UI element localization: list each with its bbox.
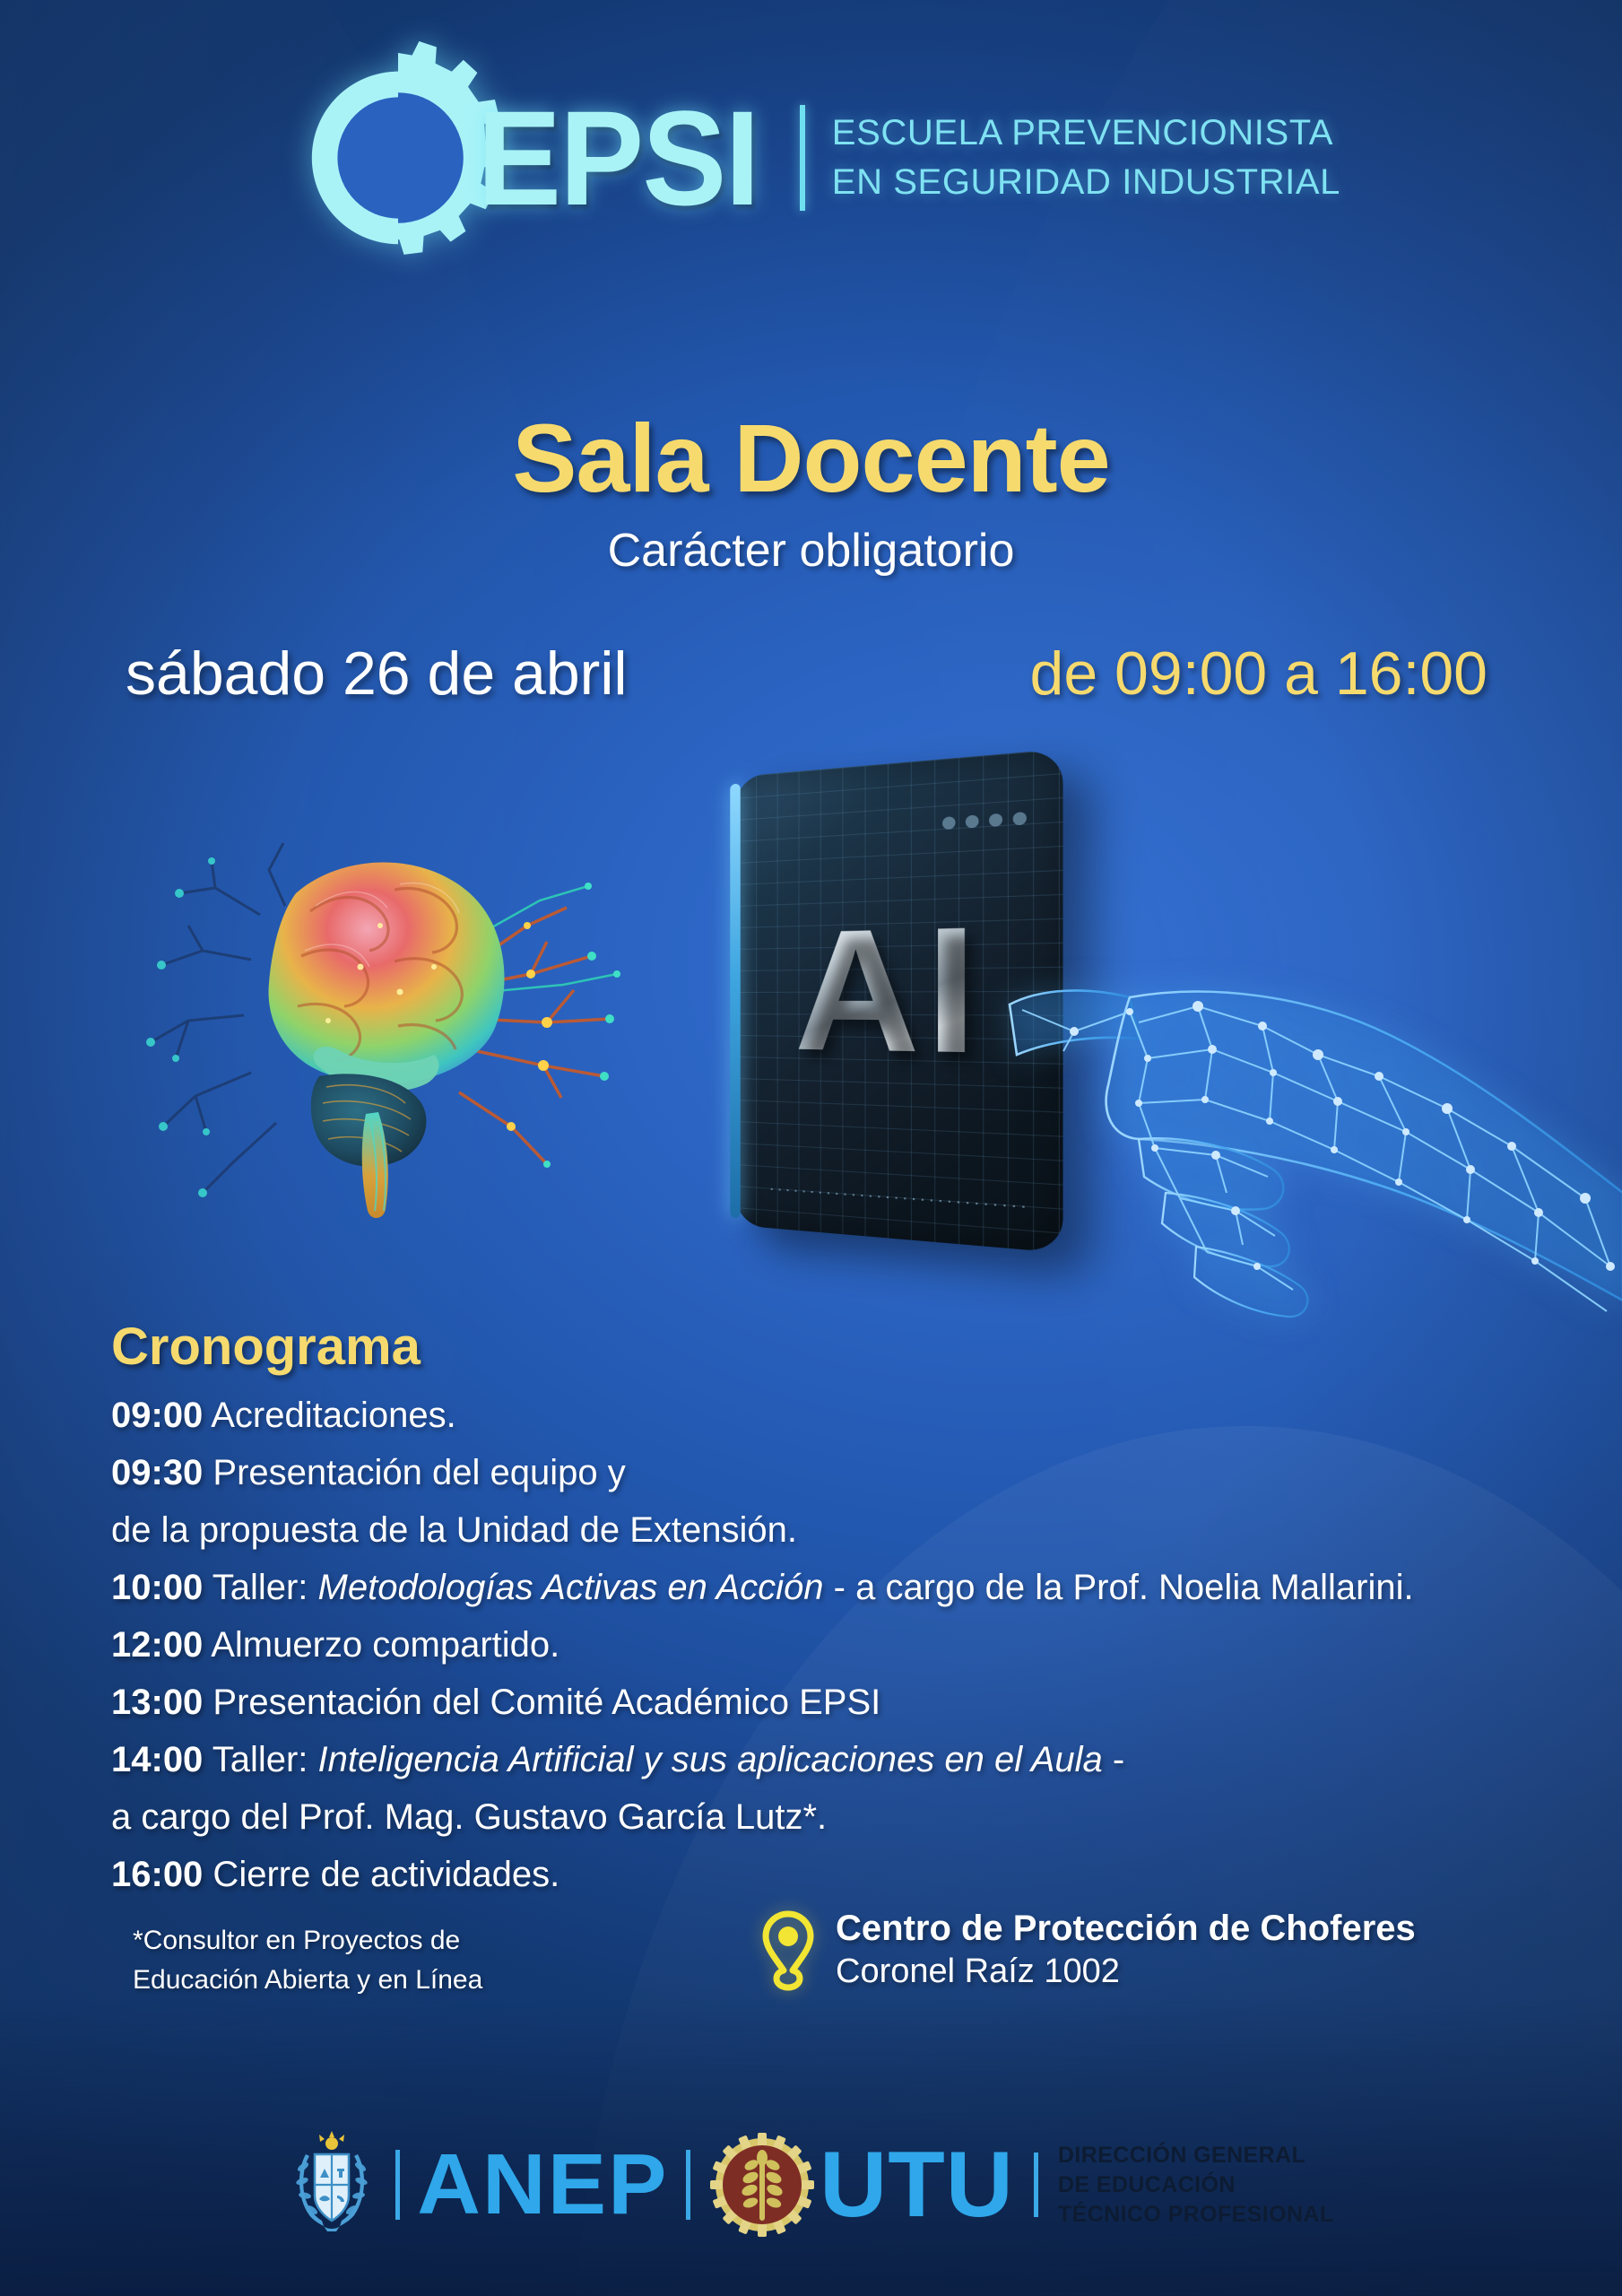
footnote: *Consultor en Proyectos de Educación Abi… — [133, 1921, 482, 2001]
schedule-item: 09:00 Acreditaciones. — [111, 1397, 1586, 1433]
brain-neural-network-icon — [126, 807, 628, 1229]
schedule-text: Presentación del equipo y — [203, 1453, 625, 1492]
page-subtitle: Carácter obligatorio — [0, 524, 1622, 578]
artwork-area: AI — [0, 771, 1622, 1363]
location-block: Centro de Protección de Choferes Coronel… — [760, 1907, 1416, 1993]
location-text: Centro de Protección de Choferes Coronel… — [836, 1907, 1416, 1993]
anep-wordmark: ANEP — [418, 2142, 669, 2228]
schedule-time: 09:00 — [111, 1396, 203, 1435]
dgetp-line2: DE EDUCACIÓN — [1058, 2170, 1334, 2200]
schedule-heading: Cronograma — [111, 1317, 421, 1377]
schedule-item: 14:00 Taller: Inteligencia Artificial y … — [111, 1742, 1586, 1778]
schedule-workshop-title: Metodologías Activas en Acción — [318, 1568, 824, 1607]
footer-divider-1 — [395, 2150, 400, 2220]
schedule-time: 13:00 — [111, 1683, 203, 1722]
venue-name: Centro de Protección de Choferes — [836, 1907, 1416, 1951]
schedule-time: 09:30 — [111, 1453, 203, 1492]
epsi-subtitle-line1: ESCUELA PREVENCIONISTA — [832, 109, 1340, 158]
schedule-item: 16:00 Cierre de actividades. — [111, 1857, 1586, 1892]
schedule-time: 16:00 — [111, 1855, 203, 1894]
venue-address: Coronel Raíz 1002 — [836, 1951, 1416, 1994]
schedule-time: 12:00 — [111, 1625, 203, 1665]
utu-wordmark: UTU — [820, 2138, 1014, 2231]
epsi-wordmark: EPSI — [477, 91, 759, 225]
schedule-text-tail: - a cargo de la Prof. Noelia Mallarini. — [824, 1568, 1414, 1607]
ai-panel-label: AI — [794, 900, 984, 1082]
event-date: sábado 26 de abril — [126, 639, 628, 709]
schedule-list: 09:00 Acreditaciones. 09:30 Presentación… — [111, 1397, 1586, 1914]
dgetp-text: DIRECCIÓN GENERAL DE EDUCACIÓN TÉCNICO P… — [1058, 2141, 1334, 2230]
footer-logos: ANEP — [0, 2131, 1622, 2239]
schedule-time: 14:00 — [111, 1740, 203, 1779]
schedule-text: Taller: — [203, 1740, 317, 1779]
logo-divider — [800, 105, 805, 211]
dgetp-line1: DIRECCIÓN GENERAL — [1058, 2141, 1334, 2170]
footer-divider-3 — [1034, 2152, 1038, 2217]
schedule-text: Taller: — [203, 1568, 317, 1607]
epsi-subtitle: ESCUELA PREVENCIONISTA EN SEGURIDAD INDU… — [832, 109, 1340, 207]
schedule-time: 10:00 — [111, 1568, 203, 1607]
schedule-text-tail: - — [1103, 1740, 1124, 1779]
schedule-text: Presentación del Comité Académico EPSI — [203, 1683, 880, 1722]
schedule-item: a cargo del Prof. Mag. Gustavo García Lu… — [111, 1799, 1586, 1835]
schedule-text: de la propuesta de la Unidad de Extensió… — [111, 1510, 797, 1550]
footnote-line2: Educación Abierta y en Línea — [133, 1961, 482, 2000]
schedule-text: a cargo del Prof. Mag. Gustavo García Lu… — [111, 1797, 827, 1837]
dgetp-line3: TÉCNICO PROFESIONAL — [1058, 2200, 1334, 2230]
footer-divider-2 — [686, 2150, 690, 2220]
schedule-item: 12:00 Almuerzo compartido. — [111, 1627, 1586, 1663]
epsi-logo: EPSI ESCUELA PREVENCIONISTA EN SEGURIDAD… — [0, 41, 1622, 274]
map-pin-icon — [760, 1910, 816, 1993]
epsi-subtitle-line2: EN SEGURIDAD INDUSTRIAL — [832, 158, 1340, 207]
utu-gear-wheat-emblem-icon — [710, 2133, 814, 2237]
event-hours: de 09:00 a 16:00 — [1030, 639, 1488, 709]
ai-panel-glow-edge — [730, 784, 740, 1219]
schedule-item: 09:30 Presentación del equipo y — [111, 1455, 1586, 1491]
schedule-item: de la propuesta de la Unidad de Extensió… — [111, 1512, 1586, 1548]
date-row: sábado 26 de abril de 09:00 a 16:00 — [126, 639, 1514, 709]
schedule-text: Acreditaciones. — [203, 1396, 455, 1435]
wireframe-robotic-hand-icon — [1004, 924, 1622, 1390]
schedule-item: 13:00 Presentación del Comité Académico … — [111, 1684, 1586, 1720]
schedule-text: Almuerzo compartido. — [203, 1625, 559, 1665]
schedule-text: Cierre de actividades. — [203, 1855, 559, 1894]
footnote-line1: *Consultor en Proyectos de — [133, 1921, 482, 1961]
uruguay-coat-of-arms-icon — [288, 2131, 376, 2239]
schedule-item: 10:00 Taller: Metodologías Activas en Ac… — [111, 1570, 1586, 1605]
poster-root: EPSI ESCUELA PREVENCIONISTA EN SEGURIDAD… — [0, 0, 1622, 2296]
page-title: Sala Docente — [0, 402, 1622, 514]
schedule-workshop-title: Inteligencia Artificial y sus aplicacion… — [318, 1740, 1103, 1779]
